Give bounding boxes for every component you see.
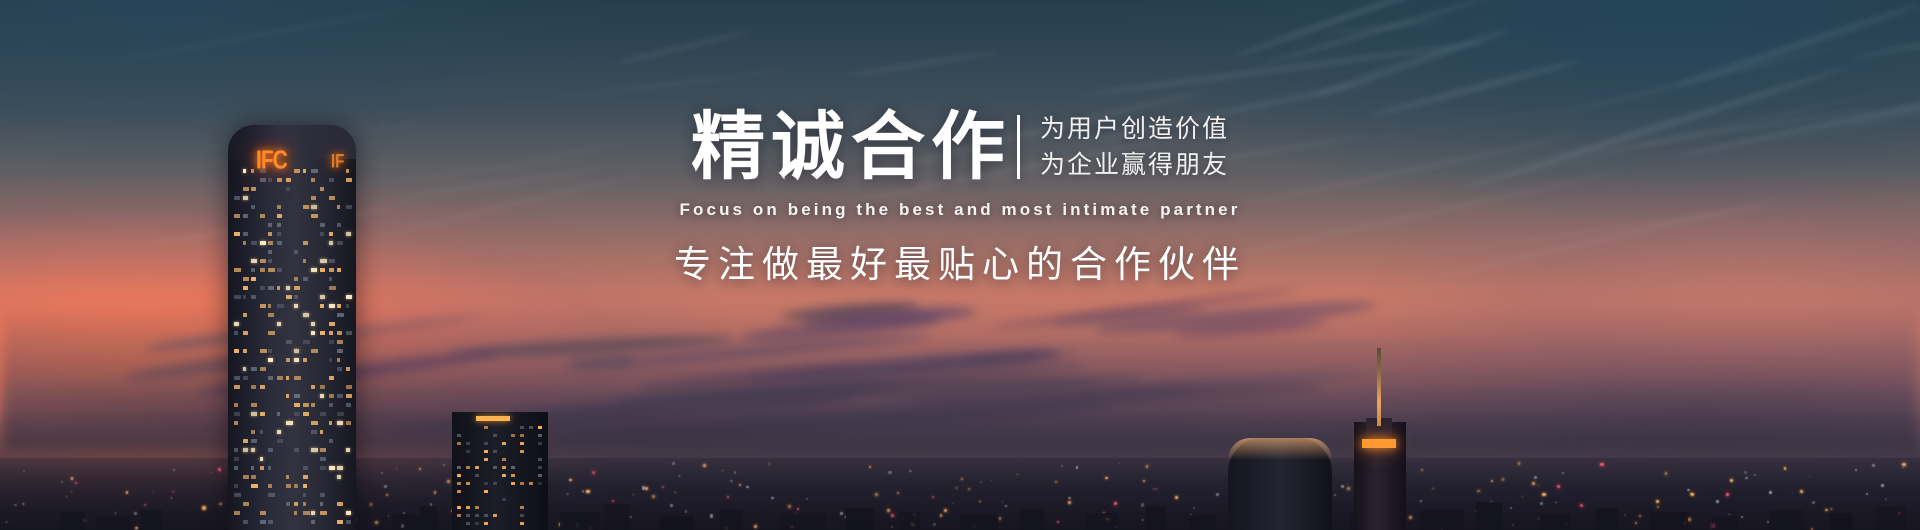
city-light [633, 494, 634, 495]
tower-window [234, 484, 238, 488]
building-window [538, 458, 542, 461]
tower-window [286, 484, 292, 488]
tower-window [346, 295, 352, 299]
tower-window [303, 403, 310, 407]
building-roof-light [476, 416, 510, 421]
building-window [538, 482, 542, 485]
mid-building [452, 412, 548, 530]
building-window [493, 466, 497, 469]
tower-window [251, 412, 257, 416]
tower-window [277, 430, 281, 434]
building-window [475, 506, 479, 509]
distant-building [1420, 510, 1464, 530]
tower-window [320, 295, 325, 299]
city-light [932, 496, 933, 497]
city-light [386, 494, 388, 496]
city-light [1767, 521, 1769, 523]
side-slogan-1: 为用户创造价值 [1040, 117, 1229, 142]
city-light [173, 469, 175, 471]
distant-building [604, 504, 630, 530]
city-light [1146, 465, 1149, 468]
city-light [447, 480, 450, 483]
tower-window [320, 385, 325, 389]
tower-window [286, 394, 289, 398]
tower-window [337, 304, 340, 308]
city-light [670, 504, 673, 507]
tower-window [294, 448, 299, 452]
building-window [484, 450, 488, 453]
building-window [484, 514, 488, 517]
distant-building [720, 510, 742, 530]
tower-window [337, 466, 343, 470]
spire-lamp [1362, 439, 1396, 448]
tower-window [260, 511, 266, 515]
building-window [520, 522, 524, 525]
building-window [520, 450, 524, 453]
tower-window [294, 295, 298, 299]
city-light [1809, 476, 1810, 477]
tower-window [234, 412, 240, 416]
tower-window [243, 520, 249, 524]
tower-window [251, 484, 257, 488]
city-light [1216, 493, 1219, 496]
building-window [511, 474, 515, 477]
english-subtitle: Focus on being the best and most intimat… [0, 200, 1920, 220]
tower-window [268, 493, 275, 497]
building-window [529, 426, 533, 429]
city-light [1562, 472, 1564, 474]
distant-building [1650, 512, 1688, 530]
building-window [466, 514, 470, 517]
city-light [1580, 504, 1583, 507]
tower-window [303, 475, 308, 479]
tower-window [268, 304, 271, 308]
building-window [493, 482, 497, 485]
tower-window [303, 313, 310, 317]
building-window [457, 466, 461, 469]
building-window [466, 466, 470, 469]
tower-window [311, 322, 315, 326]
tower-window [294, 484, 298, 488]
tower-window [260, 412, 265, 416]
tower-window [337, 502, 343, 506]
tower-window [329, 394, 335, 398]
building-window [484, 522, 488, 525]
tower-window [294, 394, 300, 398]
distant-building [96, 516, 130, 530]
building-window [484, 490, 488, 493]
distant-building [1020, 509, 1044, 530]
tower-window [243, 502, 250, 506]
tower-window [320, 493, 325, 497]
building-window [493, 514, 497, 517]
tower-window [337, 475, 341, 479]
city-light [1143, 480, 1145, 482]
building-window [520, 482, 524, 485]
tower-window [234, 457, 239, 461]
tower-window [234, 376, 240, 380]
tower-window [311, 385, 314, 389]
tower-window [320, 394, 324, 398]
distant-building [1596, 508, 1618, 530]
tower-window [337, 313, 343, 317]
city-light [1688, 518, 1691, 521]
tower-window [320, 511, 327, 515]
building-window [466, 450, 470, 453]
building-window [457, 434, 461, 437]
building-window [520, 434, 524, 437]
tower-window [337, 358, 340, 362]
tower-window [329, 421, 333, 425]
building-window [520, 514, 524, 517]
tower-window [260, 457, 264, 461]
tower-window [251, 295, 256, 299]
distant-building [900, 512, 920, 530]
tower-window [311, 511, 314, 515]
building-window [457, 474, 461, 477]
tower-window [346, 331, 352, 335]
tower-window [303, 502, 306, 506]
distant-building [60, 512, 86, 530]
city-light [891, 514, 894, 517]
tower-window [286, 502, 291, 506]
tower-window [286, 340, 292, 344]
tower-window [234, 511, 240, 515]
tower-window [337, 394, 343, 398]
building-window [475, 474, 479, 477]
city-light [1522, 496, 1523, 497]
building-window [484, 442, 488, 445]
city-light [218, 468, 221, 471]
building-window [484, 426, 488, 429]
city-light [1872, 464, 1875, 467]
distant-building [420, 506, 438, 530]
tower-window [303, 511, 310, 515]
tower-window [329, 403, 333, 407]
city-light [1341, 485, 1344, 488]
tower-window [346, 520, 351, 524]
building-window [538, 434, 542, 437]
building-window [502, 498, 506, 501]
tower-window [329, 331, 333, 335]
distant-building [1146, 506, 1166, 530]
page-title: 精诚合作 [691, 110, 1011, 184]
tower-window [311, 421, 317, 425]
tower-window [251, 439, 256, 443]
tower-window [337, 412, 344, 416]
tower-window [277, 412, 280, 416]
city-light [662, 486, 664, 488]
city-light [71, 491, 72, 492]
building-window [520, 506, 524, 509]
tower-window [294, 358, 298, 362]
tower-window [243, 367, 246, 371]
tower-window [251, 430, 255, 434]
tower-window [260, 367, 267, 371]
tower-window [251, 403, 257, 407]
city-light [980, 481, 982, 483]
city-light [1690, 493, 1693, 496]
city-light [1812, 501, 1815, 504]
tower-window [329, 466, 335, 470]
tower-window [251, 475, 256, 479]
building-window [493, 434, 497, 437]
dome-building-icon [1228, 438, 1332, 530]
tower-window [251, 466, 254, 470]
city-light [566, 493, 568, 495]
city-light [135, 527, 137, 529]
building-window [475, 522, 479, 525]
tower-window [243, 475, 249, 479]
tower-window [234, 448, 238, 452]
tower-window [346, 304, 349, 308]
building-window [484, 458, 488, 461]
city-light [1866, 493, 1868, 495]
city-light [1881, 484, 1884, 487]
distant-building [1540, 514, 1570, 530]
tower-window [234, 493, 241, 497]
tower-window [303, 493, 307, 497]
city-light [1769, 491, 1772, 494]
building-window [457, 490, 461, 493]
tower-window [346, 403, 351, 407]
tower-window [311, 403, 315, 407]
building-window [520, 442, 524, 445]
tower-window [329, 304, 336, 308]
dome-highlight [1228, 438, 1332, 460]
city-light [1512, 524, 1513, 525]
tower-window [268, 448, 273, 452]
city-light [1068, 497, 1071, 500]
tower-window [234, 403, 238, 407]
city-light [1557, 485, 1560, 488]
building-window [502, 466, 506, 469]
tower-window [277, 304, 284, 308]
tower-window [320, 430, 323, 434]
tower-window [260, 304, 267, 308]
tower-window [243, 295, 246, 299]
tower-window [294, 412, 300, 416]
distant-building [660, 516, 694, 530]
city-light [419, 468, 420, 469]
tower-window [234, 421, 238, 425]
city-light [1639, 515, 1641, 517]
tower-window [320, 448, 326, 452]
tower-window [260, 430, 264, 434]
tower-window [277, 439, 283, 443]
side-slogan-2: 为企业赢得朋友 [1040, 153, 1229, 178]
distant-building [560, 512, 600, 530]
city-light [1141, 503, 1144, 506]
tower-window [234, 331, 238, 335]
tower-window [329, 358, 333, 362]
distant-building [1190, 515, 1216, 530]
tower-window [251, 448, 255, 452]
headline-row: 精诚合作 为用户创造价值 为企业赢得朋友 [0, 110, 1920, 184]
city-light [1902, 463, 1905, 466]
building-window [511, 482, 515, 485]
city-light [1656, 500, 1659, 503]
city-light [1726, 493, 1729, 496]
tower-window [268, 358, 273, 362]
tower-window [311, 520, 315, 524]
city-light [1518, 462, 1520, 464]
tower-window [268, 349, 271, 353]
city-light [1409, 516, 1412, 519]
tower-window [320, 331, 325, 335]
city-light [375, 521, 378, 524]
city-light [1540, 502, 1543, 505]
tower-window [337, 340, 342, 344]
banner-copy: 精诚合作 为用户创造价值 为企业赢得朋友 Focus on being the … [0, 110, 1920, 288]
building-window [466, 522, 470, 525]
tower-window [234, 466, 238, 470]
tower-window [346, 385, 352, 389]
city-light [840, 512, 843, 515]
building-window [538, 426, 542, 429]
city-light [1005, 505, 1007, 507]
city-light [592, 471, 595, 474]
city-light [1855, 469, 1856, 470]
tower-window [268, 520, 273, 524]
headline-divider [1017, 115, 1020, 179]
city-light [1057, 521, 1059, 523]
tower-window [286, 376, 289, 380]
city-light [5, 521, 7, 523]
city-light [685, 510, 687, 512]
tower-window [320, 412, 326, 416]
tower-window [346, 367, 350, 371]
city-light [652, 495, 655, 498]
tower-window [329, 322, 335, 326]
distant-building [1876, 506, 1906, 530]
tower-window [311, 448, 317, 452]
tower-window [294, 304, 298, 308]
city-light [1017, 474, 1018, 475]
city-light [769, 463, 770, 464]
city-light [1420, 500, 1422, 502]
tower-window [243, 349, 248, 353]
tower-window [243, 331, 249, 335]
tower-window [303, 340, 310, 344]
tower-window [234, 349, 239, 353]
tower-window [268, 331, 274, 335]
city-light [1193, 507, 1195, 509]
city-light [968, 488, 971, 491]
tower-window [286, 358, 291, 362]
tower-window [320, 502, 323, 506]
tower-window [337, 421, 343, 425]
tower-window [268, 313, 273, 317]
distant-building [1712, 516, 1738, 530]
distant-building [846, 508, 874, 530]
city-light [771, 497, 773, 499]
chinese-tagline: 专注做最好最贴心的合作伙伴 [0, 234, 1920, 288]
tower-window [303, 358, 307, 362]
tower-window [311, 331, 315, 335]
tower-window [268, 376, 272, 380]
tower-window [251, 385, 256, 389]
tower-window [329, 340, 334, 344]
city-light [672, 462, 675, 465]
city-light [1542, 493, 1545, 496]
city-light [434, 491, 436, 493]
tower-window [337, 520, 343, 524]
building-window [475, 514, 479, 517]
tower-window [346, 421, 351, 425]
tower-window [303, 484, 307, 488]
building-window [511, 466, 515, 469]
city-light [869, 466, 871, 468]
city-light [370, 503, 372, 505]
tower-window [346, 511, 351, 515]
city-light [703, 464, 706, 467]
tower-window [268, 484, 272, 488]
building-window [502, 458, 506, 461]
building-window [529, 482, 533, 485]
city-light [739, 484, 740, 485]
tower-window [268, 466, 271, 470]
tower-window [234, 385, 240, 389]
building-window [538, 474, 542, 477]
city-light [612, 500, 614, 502]
tower-window [286, 421, 293, 425]
tower-window [320, 304, 324, 308]
building-window [466, 506, 470, 509]
tower-window [346, 448, 350, 452]
spire-mast [1377, 348, 1381, 426]
tower-window [260, 385, 265, 389]
distant-building [1770, 510, 1804, 530]
tower-window [337, 331, 342, 335]
tower-window [277, 376, 283, 380]
building-window [502, 442, 506, 445]
city-light [887, 509, 890, 512]
tower-window [337, 367, 342, 371]
city-light [1068, 501, 1071, 504]
city-light [734, 471, 736, 473]
distant-building [140, 510, 162, 530]
city-light [1432, 488, 1433, 489]
distant-building [780, 514, 826, 530]
tower-window [294, 511, 297, 515]
city-light [891, 526, 893, 528]
tower-window [311, 349, 317, 353]
hero-banner: IFC IF 精诚合作 为用户创造价值 为企业赢得朋友 Focus on bei… [0, 0, 1920, 530]
distant-building [1476, 502, 1502, 530]
city-light [1510, 507, 1512, 509]
building-window [475, 466, 479, 469]
tower-window [243, 439, 248, 443]
city-light [1831, 508, 1832, 509]
building-window [457, 514, 461, 517]
city-light [75, 482, 77, 484]
city-light [1175, 496, 1177, 498]
city-light [582, 490, 584, 492]
tower-window [251, 367, 257, 371]
city-light [153, 491, 154, 492]
city-light [754, 525, 757, 528]
tower-window [286, 475, 289, 479]
city-light [1502, 478, 1505, 481]
tower-window [311, 430, 317, 434]
tower-window [337, 349, 343, 353]
tower-window [277, 322, 281, 326]
city-light [1076, 466, 1079, 469]
distant-building [392, 514, 422, 530]
city-light [384, 485, 387, 488]
tower-window [234, 295, 241, 299]
